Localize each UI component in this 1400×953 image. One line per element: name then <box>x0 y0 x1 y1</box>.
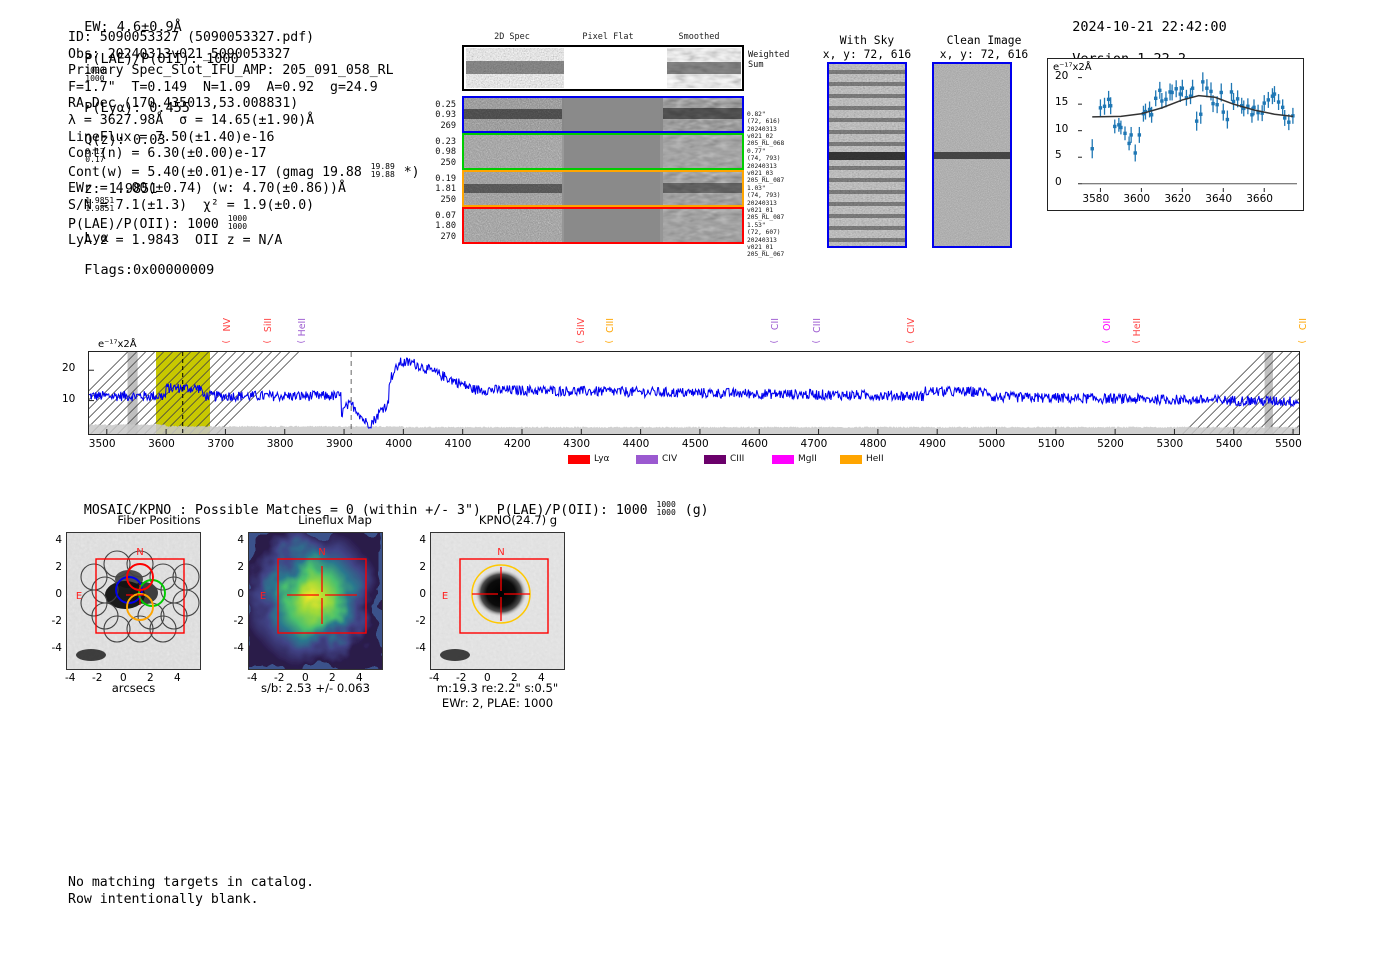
axis-tick-label: 3900 <box>326 438 353 450</box>
emission-line-marker: ( <box>222 340 232 344</box>
legend-label: Lyα <box>594 454 609 464</box>
axis-tick-label: 5 <box>1055 149 1062 161</box>
axis-tick-label: 15 <box>1055 96 1068 108</box>
clean-image <box>932 62 1012 248</box>
source-metadata-block: ID: 5090053327 (5090053327.pdf) Obs: 202… <box>68 30 420 250</box>
axis-tick-label: -4 <box>408 642 426 654</box>
emission-line-marker: ( <box>297 340 307 344</box>
kpno-title: KPNO(24.7) g <box>428 513 608 527</box>
svg-text:N: N <box>318 547 325 558</box>
axis-tick-label: 5200 <box>1097 438 1124 450</box>
axis-tick-label: 4800 <box>860 438 887 450</box>
weighted-sum-imagery <box>464 47 742 89</box>
svg-text:N: N <box>497 547 504 558</box>
legend-label: HeII <box>866 454 884 464</box>
fiber-left-values: 0.071.80270 <box>404 211 456 242</box>
emission-line-marker: ( <box>1132 340 1142 344</box>
kpno-image: N E <box>430 532 565 670</box>
axis-tick-label: -2 <box>408 615 426 627</box>
axis-tick-label: 20 <box>62 362 75 374</box>
axis-tick-label: 20 <box>1055 70 1068 82</box>
col-header-pixel-flat: Pixel Flat <box>562 32 654 42</box>
emission-line-label: SiII <box>263 318 274 332</box>
spectrum-legend: LyαCIVCIIIMgIIHeII <box>568 452 908 466</box>
footer-line-2: Row intentionally blank. <box>68 891 314 908</box>
axis-tick-label: 4100 <box>445 438 472 450</box>
emission-line-marker: ( <box>906 340 916 344</box>
axis-tick-label: 3580 <box>1082 193 1109 205</box>
with-sky-title: With Sky <box>812 34 922 47</box>
full-spectrum-plot <box>88 351 1300 435</box>
fiber-positions-title: Fiber Positions <box>64 513 254 527</box>
emission-line-marker: ( <box>263 340 273 344</box>
axis-tick-label: 3640 <box>1205 193 1232 205</box>
axis-tick-label: 0 <box>408 588 426 600</box>
svg-text:E: E <box>76 591 82 602</box>
weighted-sum-label: WeightedSum <box>748 50 789 71</box>
axis-tick-label: 5100 <box>1038 438 1065 450</box>
emission-line-label: CIV <box>906 318 917 334</box>
meta-radec: RA,Dec (170.435013,53.008831) <box>68 96 420 113</box>
emission-line-label: CIII <box>812 318 823 333</box>
emission-line-marker: ( <box>605 340 615 344</box>
emission-line-label: SiIV <box>576 318 587 336</box>
fiber-row <box>462 207 744 244</box>
footer-note: No matching targets in catalog. Row inte… <box>68 874 314 908</box>
fiber-row <box>462 96 744 133</box>
emission-line-label: HeII <box>1132 318 1143 336</box>
legend-swatch <box>772 455 794 464</box>
meta-id: ID: 5090053327 (5090053327.pdf) <box>68 30 420 47</box>
emission-line-label: NV <box>222 318 233 331</box>
meta-ewr: EWr = 4.00(±0.74) (w: 4.70(±0.86))Å <box>68 181 420 198</box>
fiber-positions-image: N E <box>66 532 201 670</box>
meta-plae-fraction: 10001000 <box>228 215 247 231</box>
emission-line-label: HeII <box>297 318 308 336</box>
axis-tick-label: 3600 <box>1123 193 1150 205</box>
legend-swatch <box>568 455 590 464</box>
axis-tick-label: 3800 <box>267 438 294 450</box>
meta-lineflux: LineFlux = 7.50(±1.40)e-16 <box>68 130 420 147</box>
axis-tick-label: 4 <box>44 534 62 546</box>
lineflux-map-image: N E <box>248 532 383 670</box>
legend-label: CIV <box>662 454 677 464</box>
axis-tick-label: 4 <box>226 534 244 546</box>
meta-obs: Obs: 20240313v021_5090053327 <box>68 47 420 64</box>
legend-swatch <box>636 455 658 464</box>
header-flags: Flags:0x00000009 <box>84 262 214 278</box>
axis-tick-label: 4 <box>408 534 426 546</box>
svg-text:N: N <box>136 547 143 558</box>
footer-line-1: No matching targets in catalog. <box>68 874 314 891</box>
axis-tick-label: 4200 <box>504 438 531 450</box>
axis-tick-label: 2 <box>226 561 244 573</box>
lineflux-map-xlabel: s/b: 2.53 +/- 0.063 <box>228 681 403 695</box>
line-zoom-plot <box>1047 58 1304 211</box>
kpno-sublabel: EWr: 2, PLAE: 1000 <box>410 696 585 710</box>
svg-text:E: E <box>442 591 448 602</box>
fiber-row <box>462 170 744 207</box>
axis-tick-label: 3620 <box>1164 193 1191 205</box>
axis-tick-label: 5400 <box>1216 438 1243 450</box>
fiber-row <box>462 133 744 170</box>
meta-plae: P(LAE)/P(OII): 1000 10001000 <box>68 215 420 234</box>
emission-line-marker: ( <box>576 340 586 344</box>
fiber-left-values: 0.250.93269 <box>404 100 456 131</box>
axis-tick-label: 10 <box>62 393 75 405</box>
axis-tick-label: 5000 <box>979 438 1006 450</box>
legend-label: CIII <box>730 454 744 464</box>
with-sky-image <box>827 62 907 248</box>
emission-line-label: CII <box>1298 318 1309 330</box>
clean-image-subtitle: x, y: 72, 616 <box>924 48 1044 61</box>
axis-tick-label: -4 <box>44 642 62 654</box>
meta-lambda: λ = 3627.98Å σ = 14.65(±1.90)Å <box>68 113 420 130</box>
legend-swatch <box>840 455 862 464</box>
axis-tick-label: 4500 <box>682 438 709 450</box>
axis-tick-label: 3600 <box>148 438 175 450</box>
axis-tick-label: 3660 <box>1246 193 1273 205</box>
axis-tick-label: 4900 <box>919 438 946 450</box>
axis-tick-label: 4000 <box>385 438 412 450</box>
meta-seeing: F=1.7" T=0.149 N=1.09 A=0.92 g=24.9 <box>68 80 420 97</box>
col-header-2d-spec: 2D Spec <box>462 32 562 42</box>
spectrum-units: e⁻¹⁷x2Å <box>98 339 137 350</box>
axis-tick-label: 4400 <box>623 438 650 450</box>
axis-tick-label: 0 <box>226 588 244 600</box>
legend-swatch <box>704 455 726 464</box>
fiber-left-values: 0.191.81250 <box>404 174 456 205</box>
emission-line-marker: ( <box>770 340 780 344</box>
meta-redshifts: LyA z = 1.9843 OII z = N/A <box>68 233 420 250</box>
axis-tick-label: 3500 <box>89 438 116 450</box>
axis-tick-label: -2 <box>44 615 62 627</box>
emission-line-label: CII <box>770 318 781 330</box>
meta-primary: Primary Spec_Slot_IFU_AMP: 205_091_058_R… <box>68 63 420 80</box>
kpno-xlabel: m:19.3 re:2.2" s:0.5" <box>410 681 585 695</box>
axis-tick-label: 2 <box>408 561 426 573</box>
axis-tick-label: 10 <box>1055 123 1068 135</box>
axis-tick-label: 5300 <box>1156 438 1183 450</box>
axis-tick-label: -4 <box>226 642 244 654</box>
meta-cont-w: Cont(w) = 5.40(±0.01)e-17 (gmag 19.88 19… <box>68 163 420 182</box>
svg-text:E: E <box>260 591 266 602</box>
axis-tick-label: 3700 <box>207 438 234 450</box>
emission-line-label: CIII <box>605 318 616 333</box>
with-sky-subtitle: x, y: 72, 616 <box>812 48 922 61</box>
fiber-left-values: 0.230.98250 <box>404 137 456 168</box>
clean-image-title: Clean Image <box>924 34 1044 47</box>
axis-tick-label: 4600 <box>741 438 768 450</box>
emission-line-marker: ( <box>812 340 822 344</box>
axis-tick-label: -2 <box>226 615 244 627</box>
col-header-smoothed: Smoothed <box>654 32 744 42</box>
spec2d-panel-group: 2D Spec Pixel Flat Smoothed <box>432 32 762 250</box>
axis-tick-label: 0 <box>44 588 62 600</box>
axis-tick-label: 2 <box>44 561 62 573</box>
meta-cont-n: Cont(n) = 6.30(±0.00)e-17 <box>68 146 420 163</box>
lineflux-map-title: Lineflux Map <box>245 513 425 527</box>
legend-label: MgII <box>798 454 817 464</box>
meta-snr: S/N = 7.1(±1.3) χ² = 1.9(±0.0) <box>68 198 420 215</box>
axis-tick-label: 0 <box>1055 176 1062 188</box>
fiber-positions-xlabel: arcsecs <box>66 681 201 695</box>
header-timestamp: 2024-10-21 22:42:00 <box>1072 19 1226 35</box>
axis-tick-label: 4700 <box>801 438 828 450</box>
emission-line-label: OII <box>1102 318 1113 331</box>
emission-line-marker: ( <box>1102 340 1112 344</box>
meta-gmag-fraction: 19.8919.88 <box>371 163 395 179</box>
emission-line-marker: ( <box>1298 340 1308 344</box>
weighted-sum-row <box>462 45 744 91</box>
mosaic-plae-fraction: 10001000 <box>657 501 676 517</box>
axis-tick-label: 4300 <box>563 438 590 450</box>
axis-tick-label: 5500 <box>1275 438 1302 450</box>
fiber-right-info: 1.53"(72, 607)20240313v021_01205_RL_067 <box>747 207 784 259</box>
